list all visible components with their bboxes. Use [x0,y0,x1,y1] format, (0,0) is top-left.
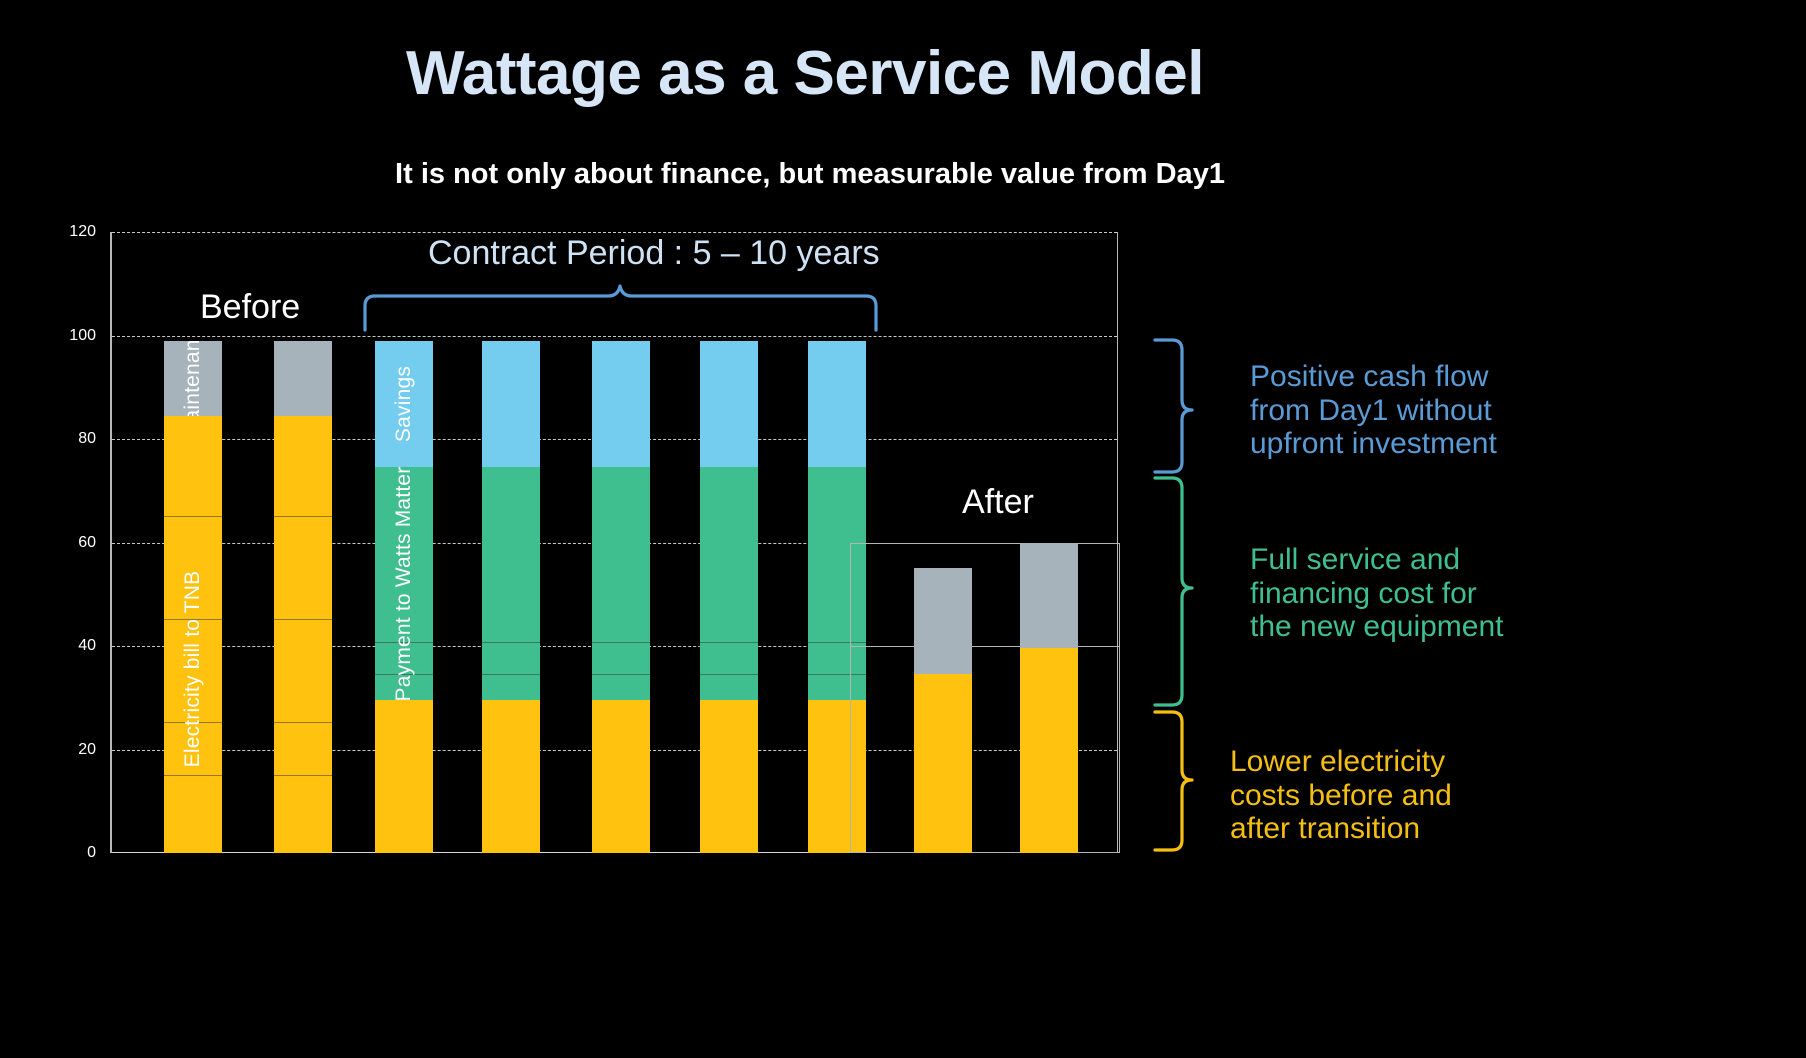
page-title: Wattage as a Service Model [0,40,1610,108]
after-gridline-40 [850,646,1120,647]
bar-contract-1[interactable]: Savings Payment to Watts Matter [375,341,433,854]
y-axis-labels: 120 100 80 60 40 20 0 [0,232,110,853]
bar-segment-maintenance [1020,543,1078,648]
bar-contract-4[interactable] [700,341,758,854]
gridline-120 [112,232,1117,233]
bar-before-1[interactable]: maintenance Electricity bill to TNB [164,341,222,854]
bar-segment-electricity [1020,648,1078,853]
y-tick-80: 80 [36,430,96,448]
bar-segment-maintenance: maintenance [164,341,222,416]
label-contract-period: Contract Period : 5 – 10 years [428,234,880,273]
segment-divider [700,642,758,643]
bar-segment-savings [700,341,758,468]
segment-divider [482,674,540,675]
bar-segment-maintenance [914,568,972,674]
bar-segment-electricity [274,416,332,854]
segment-divider [482,642,540,643]
annotation-full-service: Full service and financing cost for the … [1250,543,1504,644]
segment-divider [164,516,222,517]
y-tick-20: 20 [36,741,96,759]
gridline-100 [112,336,1117,337]
bar-segment-electricity [375,700,433,853]
bar-segment-label-payment: Payment to Watts Matter [392,466,416,701]
segment-divider [592,674,650,675]
bar-contract-3[interactable] [592,341,650,854]
bar-after-1[interactable] [914,568,972,853]
bar-segment-maintenance [274,341,332,416]
bar-before-2[interactable] [274,341,332,854]
annotation-positive-cash-flow: Positive cash flow from Day1 without upf… [1250,360,1497,461]
bar-segment-electricity [914,674,972,853]
bar-segment-electricity [700,700,758,853]
segment-divider [808,674,866,675]
bar-segment-savings: Savings [375,341,433,468]
bar-after-2[interactable] [1020,543,1078,853]
bar-contract-2[interactable] [482,341,540,854]
bar-segment-electricity [808,700,866,853]
bar-segment-payment: Payment to Watts Matter [375,467,433,700]
bar-segment-payment [482,467,540,700]
bar-segment-savings [482,341,540,468]
slide-canvas: Wattage as a Service Model It is not onl… [0,0,1806,1058]
y-tick-40: 40 [36,637,96,655]
y-tick-120: 120 [36,223,96,241]
segment-divider [274,516,332,517]
segment-divider [700,674,758,675]
label-before: Before [200,288,300,327]
segment-divider [808,642,866,643]
segment-divider [274,722,332,723]
bar-segment-label-savings: Savings [392,366,416,442]
y-tick-0: 0 [36,844,96,862]
bar-segment-savings [592,341,650,468]
segment-divider [592,642,650,643]
bar-segment-payment [808,467,866,700]
bar-segment-payment [592,467,650,700]
bar-segment-electricity: Electricity bill to TNB [164,416,222,854]
segment-divider [274,775,332,776]
annotation-lower-electricity: Lower electricity costs before and after… [1230,745,1452,846]
brace-full-service [1155,478,1192,705]
brace-positive-cash-flow [1155,340,1192,472]
label-after: After [962,483,1034,522]
bar-segment-electricity [482,700,540,853]
bar-contract-5[interactable] [808,341,866,854]
brace-lower-electricity [1155,712,1192,850]
y-tick-100: 100 [36,327,96,345]
bar-segment-payment [700,467,758,700]
segment-divider [164,775,222,776]
bar-segment-savings [808,341,866,468]
segment-divider [274,619,332,620]
y-tick-60: 60 [36,534,96,552]
after-region-frame [850,543,1120,853]
bar-segment-electricity [592,700,650,853]
bar-segment-label-electricity: Electricity bill to TNB [181,571,205,768]
page-subtitle: It is not only about finance, but measur… [0,158,1620,191]
